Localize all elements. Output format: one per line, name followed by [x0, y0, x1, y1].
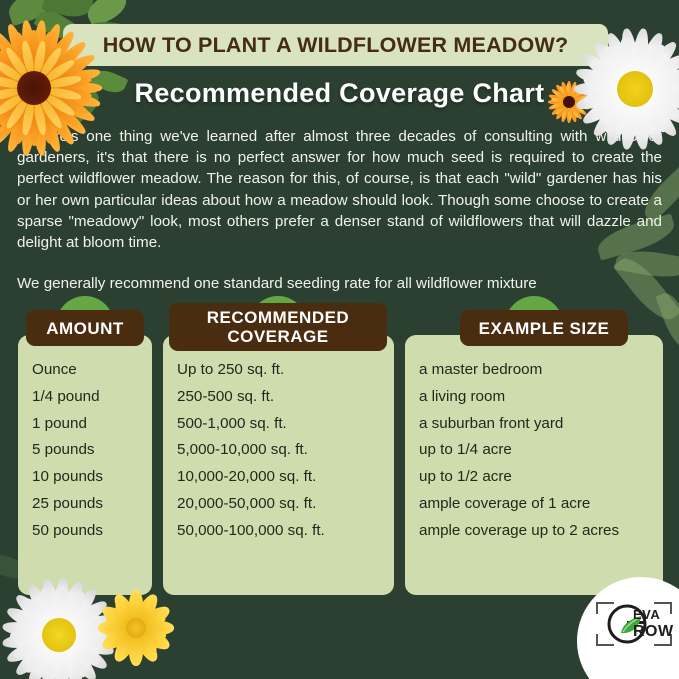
table-cell: 5 pounds — [32, 437, 138, 464]
flower-petal — [0, 36, 33, 82]
flower-petal — [141, 612, 168, 631]
flower-petal — [132, 591, 162, 628]
flower-petal — [21, 595, 56, 632]
flower-petal — [140, 621, 174, 636]
flower-petal — [59, 640, 89, 679]
table-cell: 1 pound — [32, 411, 138, 438]
column-panel: a master bedroom a living room a suburba… — [405, 335, 663, 595]
flower-petal — [10, 629, 49, 642]
flower-petal — [68, 631, 109, 650]
flower-petal — [12, 633, 60, 679]
flower-petal — [129, 597, 142, 621]
flower-petal — [32, 31, 56, 80]
flower-petal — [56, 634, 100, 679]
column-panel: Up to 250 sq. ft. 250-500 sq. ft. 500-1,… — [163, 335, 394, 595]
flower-petal — [3, 46, 29, 79]
table-cell: 10,000-20,000 sq. ft. — [177, 464, 380, 491]
flower-petal — [67, 618, 108, 638]
table-cell: up to 1/4 acre — [419, 437, 649, 464]
flower-petal — [64, 628, 116, 643]
logo-mark: EVA ROW — [593, 599, 675, 649]
flower-petal — [112, 600, 136, 626]
title-banner: HOW TO PLANT A WILDFLOWER MEADOW? — [63, 24, 608, 66]
flower-center — [126, 618, 146, 638]
yellow-flower-icon — [100, 592, 172, 664]
column-header-amount: AMOUNT — [26, 310, 144, 346]
flower-petal — [105, 625, 132, 644]
flower-petal — [19, 20, 39, 83]
column-header-coverage: RECOMMENDED COVERAGE — [169, 303, 387, 351]
flower-petal — [63, 601, 101, 634]
flower-petals — [100, 592, 172, 664]
table-cell: 50 pounds — [32, 518, 138, 545]
table-cell: ample coverage up to 2 acres — [419, 518, 649, 545]
table-cell: 500-1,000 sq. ft. — [177, 411, 380, 438]
flower-petal — [22, 639, 57, 676]
table-cell: 5,000-10,000 sq. ft. — [177, 437, 380, 464]
flower-petal — [129, 632, 144, 666]
table-cell: ample coverage of 1 acre — [419, 491, 649, 518]
flower-petal — [114, 630, 137, 657]
table-cell: a living room — [419, 384, 649, 411]
flower-petal — [111, 628, 141, 665]
table-cell: Ounce — [32, 357, 138, 384]
flower-petal — [24, 636, 63, 679]
flower-petal — [105, 614, 131, 632]
flower-petal — [28, 30, 39, 78]
table-cell: 10 pounds — [32, 464, 138, 491]
flower-petal — [99, 624, 136, 654]
flower-petal — [39, 638, 65, 679]
intro-paragraph-1: If there's one thing we've learned after… — [17, 126, 662, 253]
table-cell: 1/4 pound — [32, 384, 138, 411]
flower-petal — [135, 599, 158, 626]
column-header-example: EXAMPLE SIZE — [460, 310, 628, 346]
flower-petal — [20, 40, 36, 75]
flower-petal — [132, 628, 162, 665]
flower-petal — [12, 634, 52, 661]
logo-text-eva: EVA — [633, 607, 660, 622]
flower-petal — [62, 611, 116, 641]
flower-petal — [12, 31, 36, 80]
flower-petal — [630, 37, 650, 81]
flower-petal — [54, 644, 71, 679]
flower-petal — [12, 591, 60, 637]
flower-petal — [62, 629, 116, 659]
flower-petal — [4, 22, 38, 85]
flower-petal — [12, 610, 53, 636]
flower-center — [42, 618, 76, 652]
column-panel: Ounce 1/4 pound 1 pound 5 pounds 10 poun… — [18, 335, 152, 595]
flower-petal — [4, 630, 57, 666]
flower-petal — [2, 628, 56, 651]
table-cell: 250-500 sq. ft. — [177, 384, 380, 411]
flower-petal — [32, 40, 47, 75]
flower-petal — [136, 603, 173, 633]
flower-petal — [54, 637, 87, 679]
flower-petal — [619, 28, 642, 86]
flower-petal — [99, 603, 136, 633]
flower-petal — [136, 624, 173, 654]
flower-petal — [111, 591, 141, 628]
flower-petal — [64, 636, 103, 668]
table-cell: Up to 250 sq. ft. — [177, 357, 380, 384]
flower-petal — [98, 621, 132, 636]
table-cell: 25 pounds — [32, 491, 138, 518]
flower-petal — [59, 597, 110, 639]
flower-petal — [141, 624, 167, 642]
table-cell: up to 1/2 acre — [419, 464, 649, 491]
table-cell: 50,000-100,000 sq. ft. — [177, 518, 380, 545]
page-subtitle: Recommended Coverage Chart — [0, 78, 679, 109]
table-cell: a master bedroom — [419, 357, 649, 384]
table-cell: a suburban front yard — [419, 411, 649, 438]
flower-petal — [38, 45, 64, 78]
flower-petal — [59, 632, 110, 674]
infographic-canvas: HOW TO PLANT A WILDFLOWER MEADOW? Recomm… — [0, 0, 679, 679]
flower-petal — [52, 639, 71, 679]
flower-petal — [39, 643, 62, 679]
flower-petal — [4, 604, 57, 640]
coverage-table: Ounce 1/4 pound 1 pound 5 pounds 10 poun… — [0, 296, 679, 596]
intro-paragraph-2: We generally recommend one standard seed… — [17, 273, 662, 294]
logo-text-row: ROW — [633, 623, 674, 641]
page-title: HOW TO PLANT A WILDFLOWER MEADOW? — [103, 33, 569, 58]
flower-petal — [2, 619, 56, 642]
flower-petal — [617, 37, 639, 81]
flower-petal — [628, 28, 651, 86]
flower-petal — [136, 630, 160, 656]
table-cell: 20,000-50,000 sq. ft. — [177, 491, 380, 518]
intro-text: If there's one thing we've learned after… — [17, 126, 662, 294]
flower-petal — [130, 635, 143, 659]
